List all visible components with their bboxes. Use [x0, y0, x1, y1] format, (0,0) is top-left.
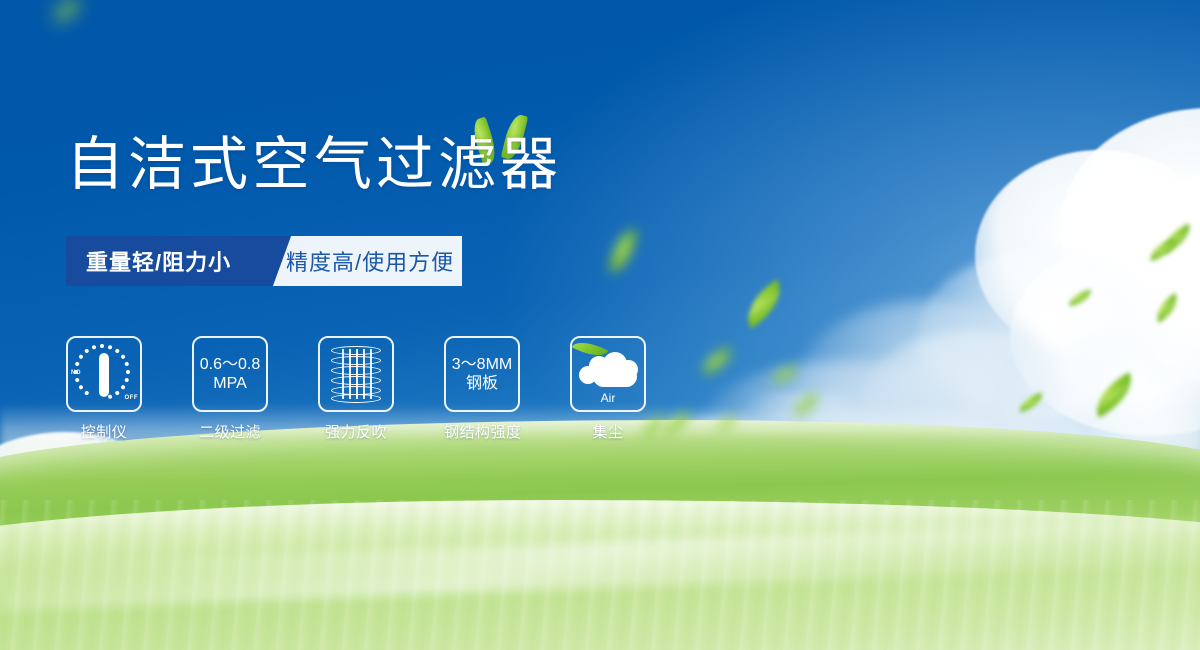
subtitle-tag-primary: 重量轻/阻力小: [66, 236, 256, 286]
steel-thickness-text: 3～8MM: [452, 355, 512, 374]
feature-caption: 控制仪: [66, 421, 142, 442]
feature-item-steel[interactable]: 3～8MM 钢板 钢结构强度: [444, 336, 520, 442]
dial-pointer: [99, 353, 109, 397]
steel-material-text: 钢板: [466, 374, 498, 393]
feature-icon-box: Air: [570, 336, 646, 412]
feature-item-blowback[interactable]: 强力反吹: [318, 336, 394, 442]
pressure-unit-text: MPA: [213, 374, 246, 393]
feature-caption: 二级过滤: [192, 421, 268, 442]
subtitle-tag-secondary-label: 精度高/使用方便: [286, 245, 454, 277]
feature-icon-box: 3～8MM 钢板: [444, 336, 520, 412]
feature-caption: 钢结构强度: [444, 421, 520, 442]
cloud-body: [593, 366, 637, 387]
dial-label-off: OFF: [125, 395, 139, 401]
control-dial-icon: NO OFF: [71, 341, 137, 407]
dial-label-on: NO: [71, 370, 81, 376]
feature-icon-box: NO OFF: [66, 336, 142, 412]
feature-item-dust-collection[interactable]: Air 集尘: [570, 336, 646, 442]
feature-icon-box: 0.6～0.8 MPA: [192, 336, 268, 412]
grass-field: [0, 420, 1200, 650]
pressure-range-text: 0.6～0.8: [200, 355, 261, 374]
feature-icon-box: [318, 336, 394, 412]
feature-caption: 集尘: [570, 421, 646, 442]
page-title: 自洁式空气过滤器: [66, 136, 562, 194]
coil-filter-icon: [331, 346, 381, 402]
feature-item-pressure[interactable]: 0.6～0.8 MPA 二级过滤: [192, 336, 268, 442]
subtitle-tag-primary-label: 重量轻/阻力小: [86, 245, 231, 277]
subtitle-tag-bar: 重量轻/阻力小 精度高/使用方便: [66, 236, 462, 286]
air-label: Air: [577, 391, 639, 405]
air-cloud-icon: Air: [577, 346, 639, 402]
product-hero-banner: 自洁式空气过滤器 重量轻/阻力小 精度高/使用方便: [0, 0, 1200, 650]
feature-caption: 强力反吹: [318, 421, 394, 442]
feature-list: NO OFF 控制仪 0.6～0.8 MPA 二级过滤: [66, 336, 646, 442]
feature-item-control-dial[interactable]: NO OFF 控制仪: [66, 336, 142, 442]
